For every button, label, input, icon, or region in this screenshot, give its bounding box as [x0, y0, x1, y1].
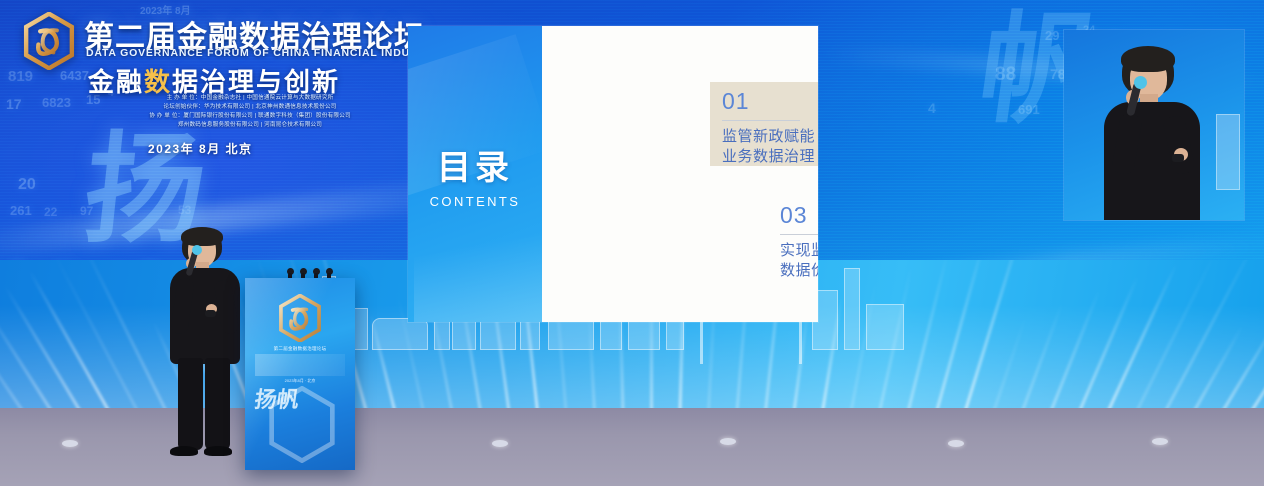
left-shoe: [170, 446, 198, 456]
feed-podium-edge: [1216, 114, 1240, 190]
podium-title-cn: 第二届金融数据治理论坛: [253, 346, 347, 352]
podium-date-cn: 2023年8月 · 北京: [253, 378, 347, 384]
right-shoe: [204, 446, 232, 456]
light-ray: [1182, 325, 1244, 410]
toc-line-2: 数据价值转变: [780, 261, 818, 281]
organizer-line: 郑州数码信息服务股份有限公司 | 河南昆仑技术有限公司: [100, 121, 400, 130]
light-ray: [958, 260, 1024, 410]
podium-calligraphy: 扬帆: [253, 382, 302, 414]
toc-line-1: 实现监管报送: [780, 241, 818, 261]
organizer-block: 主 办 单 位：中国金融杂志社 | 中国信通院云计算与大数据研究所 论坛创始伙伴…: [100, 94, 400, 130]
hair-top: [181, 227, 223, 246]
on-stage-speaker: [150, 228, 260, 473]
hair-top: [1121, 46, 1175, 72]
organizer-line: 论坛创始伙伴：华为技术有限公司 | 北京神州数通信息技术股份公司: [100, 103, 400, 112]
light-ray: [1210, 313, 1264, 410]
presentation-clicker: [1172, 154, 1184, 162]
contents-heading-cn: 目录: [437, 140, 513, 189]
organizer-line: 主 办 单 位：中国金融杂志社 | 中国信通院云计算与大数据研究所: [100, 94, 400, 103]
podium-title-graphic: [255, 354, 345, 376]
microphone-head: [192, 245, 202, 255]
contents-heading-en: CONTENTS: [430, 194, 521, 209]
hexagon-knot-logo-icon: [22, 12, 76, 70]
conference-stage-screenshot: 扬 帆 819643717682315420261229753464288935…: [0, 0, 1264, 486]
podium-hexagon-knot-logo-icon: [278, 294, 322, 342]
theme-highlight-char: 数: [144, 67, 172, 97]
toc-number: 03: [780, 204, 818, 227]
light-ray: [986, 316, 1027, 410]
toc-line-2: 业务数据治理: [722, 147, 815, 167]
microphone-head: [1134, 76, 1147, 89]
live-camera-feed: [1064, 30, 1244, 220]
organizer-line: 协 办 单 位：厦门国际银行股份有限公司 | 联通数字科技（集团）股份有限公司: [100, 112, 400, 121]
toc-divider: [780, 234, 818, 235]
event-banner: 第二届金融数据治理论坛 DATA GOVERNANCE FORUM OF CHI…: [0, 0, 412, 176]
floor-light: [62, 440, 78, 447]
event-date-location: 2023年 8月 北京: [148, 140, 253, 157]
slide-contents-panel: 目录 CONTENTS: [408, 26, 542, 322]
floor-light: [492, 440, 508, 447]
light-ray: [1238, 301, 1264, 410]
event-title-en: DATA GOVERNANCE FORUM OF CHINA FINANCIAL…: [86, 47, 441, 59]
podium-lower-hexagon-icon: [267, 386, 337, 456]
presentation-slide: 目录 CONTENTS 01 监管新政赋能 业务数据治理 02 数据质量提升 之…: [408, 26, 818, 322]
toc-item-01[interactable]: 01 监管新政赋能 业务数据治理: [722, 90, 815, 167]
slide-toc-panel: 01 监管新政赋能 业务数据治理 02 数据质量提升 之思路与方法 03 实现监…: [542, 26, 818, 322]
building-shape: [372, 318, 428, 350]
toc-number: 01: [722, 90, 815, 113]
floor-light: [1152, 438, 1168, 445]
floor-light: [948, 440, 964, 447]
left-leg: [178, 358, 203, 450]
podium: 第二届金融数据治理论坛 2023年8月 · 北京 扬帆: [245, 278, 355, 470]
theme-prefix: 金融: [88, 67, 144, 97]
light-ray: [1070, 275, 1139, 410]
right-leg: [205, 358, 230, 450]
building-shape: [844, 268, 860, 350]
light-ray: [1042, 288, 1101, 410]
floor-light: [720, 438, 736, 445]
building-shape: [866, 304, 904, 350]
toc-divider: [722, 120, 800, 121]
toc-line-1: 监管新政赋能: [722, 127, 815, 147]
toc-item-03[interactable]: 03 实现监管报送 数据价值转变: [780, 204, 818, 281]
presentation-clicker: [205, 310, 216, 317]
theme-suffix: 据治理与创新: [172, 67, 340, 97]
